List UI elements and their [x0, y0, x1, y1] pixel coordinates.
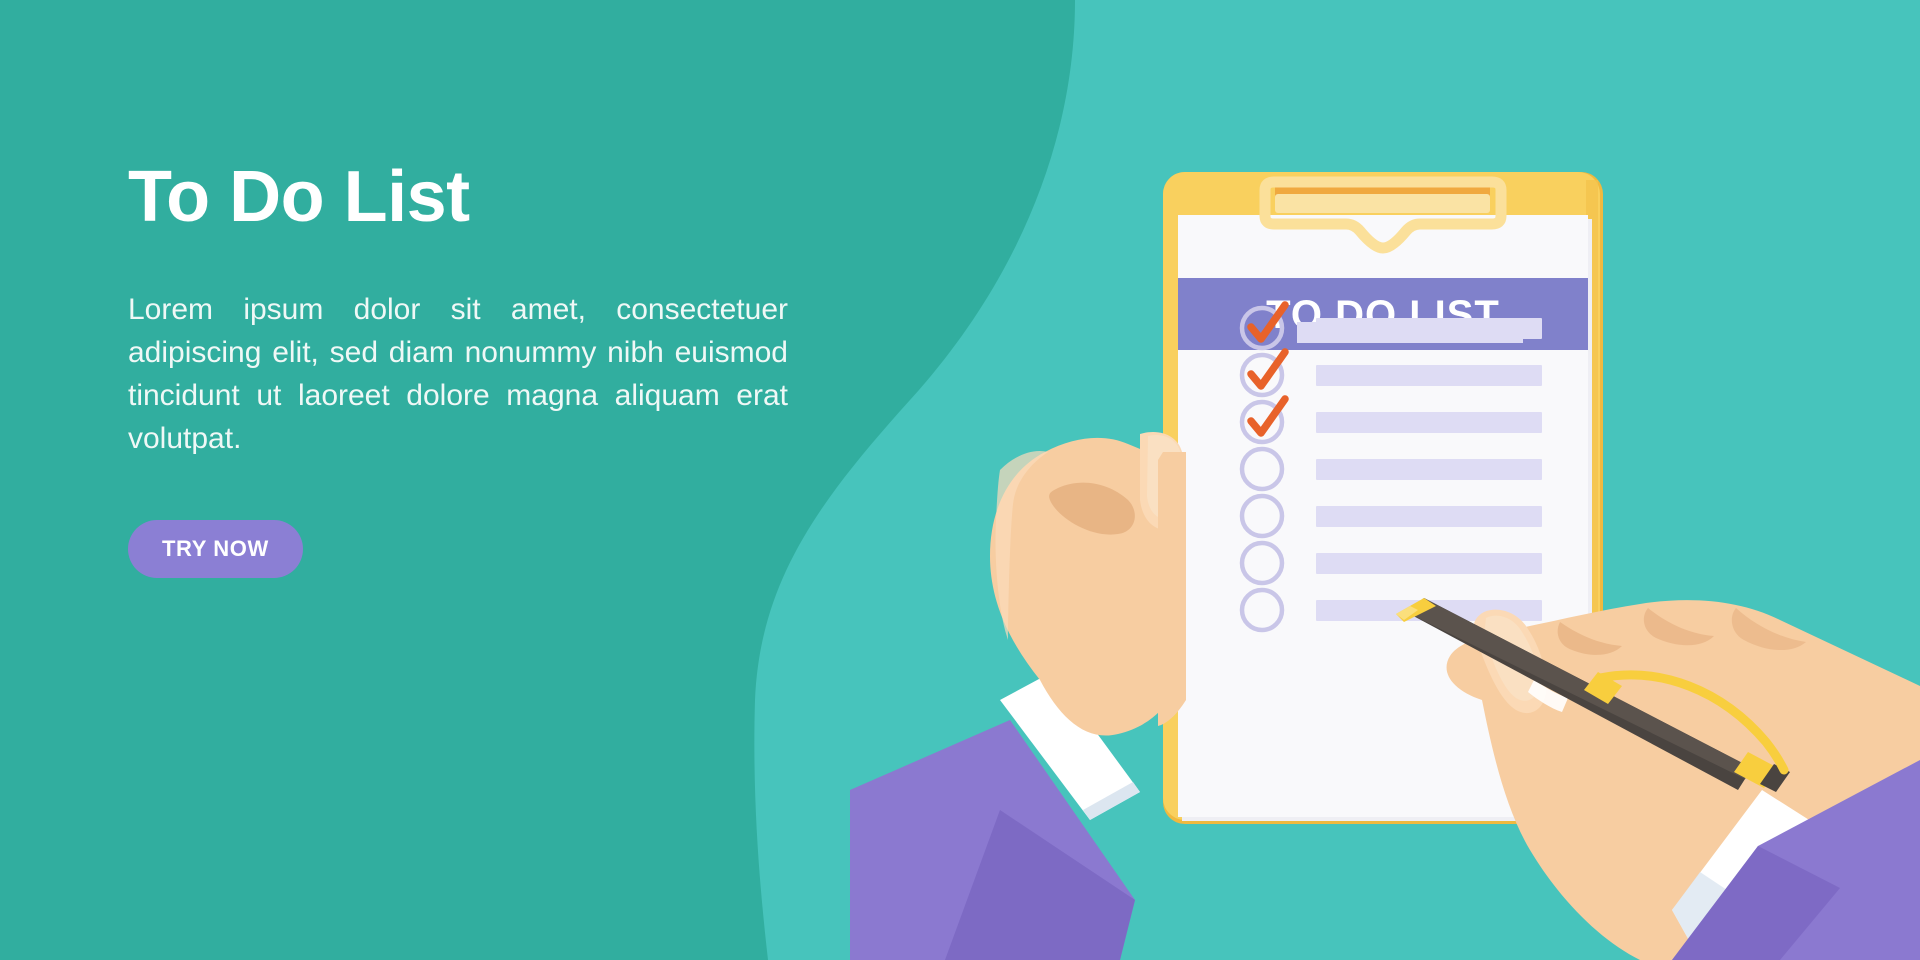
hero-paragraph: Lorem ipsum dolor sit amet, consectetuer… — [128, 288, 788, 461]
try-now-button[interactable]: TRY NOW — [128, 520, 303, 578]
hero-copy: To Do List Lorem ipsum dolor sit amet, c… — [128, 160, 792, 578]
page-title: To Do List — [128, 160, 792, 236]
hero-banner: To Do List Lorem ipsum dolor sit amet, c… — [0, 0, 1920, 960]
